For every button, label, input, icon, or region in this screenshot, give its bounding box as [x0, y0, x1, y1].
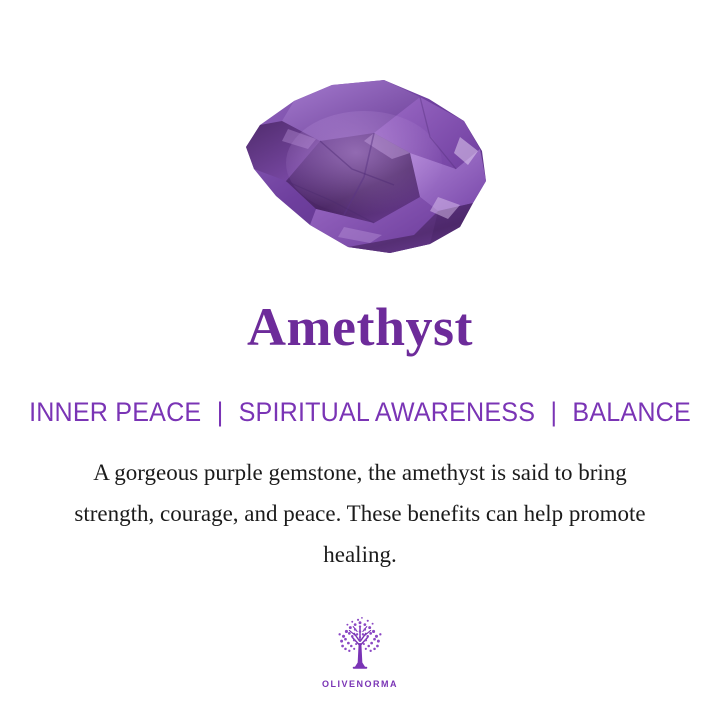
brand-name-text: OLIVENORMA [322, 679, 398, 689]
keyword-balance: BALANCE [572, 397, 691, 427]
raw-amethyst-crystal-icon [224, 77, 496, 267]
keyword-separator-1: | [208, 396, 231, 428]
keyword-separator-2: | [542, 396, 565, 428]
amethyst-info-card: Amethyst INNER PEACE | SPIRITUAL AWARENE… [0, 0, 720, 720]
brand-logo: OLIVENORMA [0, 614, 720, 689]
keyword-spiritual-awareness: SPIRITUAL AWARENESS [239, 397, 536, 427]
stone-inner-glow [286, 111, 442, 215]
description-text: A gorgeous purple gemstone, the amethyst… [60, 452, 660, 575]
keyword-inner-peace: INNER PEACE [29, 397, 201, 427]
keyword-line: INNER PEACE | SPIRITUAL AWARENESS | BALA… [25, 396, 695, 428]
tree-of-life-icon [329, 614, 391, 676]
gemstone-image-container [0, 72, 720, 272]
page-title: Amethyst [0, 298, 720, 356]
